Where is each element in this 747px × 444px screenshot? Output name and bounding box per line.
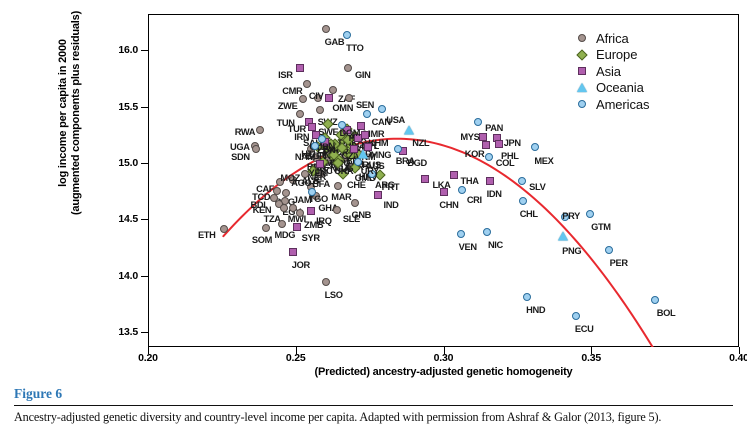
point-label-pan: PAN [485, 124, 503, 133]
data-point-idn [486, 177, 494, 185]
legend-label: Oceania [596, 80, 644, 95]
marker-square [325, 94, 333, 102]
marker-circle [523, 293, 531, 301]
caption-divider [14, 405, 733, 406]
data-point-ven [457, 230, 465, 238]
data-point-sdn [252, 145, 260, 153]
marker-circle [394, 145, 402, 153]
legend-item-americas[interactable]: Americas [575, 96, 649, 113]
data-point-yem [316, 160, 324, 168]
legend-marker-circle-icon [575, 100, 589, 108]
legend-label: Asia [596, 64, 621, 79]
data-point-irq [307, 207, 315, 215]
legend-marker-square-icon [575, 67, 589, 75]
marker-triangle [558, 232, 568, 241]
x-axis-title: (Predicted) ancestry-adjusted genetic ho… [148, 366, 739, 378]
legend-marker-diamond-icon [575, 51, 589, 59]
y-tick [141, 163, 148, 164]
data-point-zaf [329, 86, 337, 94]
marker-triangle [358, 149, 368, 158]
marker-square [374, 191, 382, 199]
legend-swatch [578, 67, 586, 75]
y-tick-label: 16.0 [104, 44, 138, 56]
point-label-gab: GAB [325, 38, 345, 47]
point-label-sen: SEN [356, 101, 374, 110]
legend-item-oceania[interactable]: Oceania [575, 80, 649, 97]
legend-swatch [578, 34, 586, 42]
point-label-ecu: ECU [575, 325, 594, 334]
data-point-kor [482, 141, 490, 149]
data-point-mex [531, 143, 539, 151]
y-tick-label: 14.5 [104, 213, 138, 225]
point-label-ukr: UKR [334, 167, 353, 176]
point-label-gin: GIN [355, 71, 370, 80]
point-label-pry: PRY [562, 212, 580, 221]
data-point-swz [316, 106, 324, 114]
marker-square [421, 175, 429, 183]
data-point-pan [474, 118, 482, 126]
data-point-mys [479, 133, 487, 141]
point-label-cri: CRI [467, 196, 482, 205]
data-point-sle [333, 206, 341, 214]
y-axis-title: log income per capita in 2000 (augmented… [57, 0, 83, 243]
marker-triangle [404, 126, 414, 135]
point-label-dom: DOM [340, 129, 361, 138]
point-label-can: CAN [372, 118, 391, 127]
marker-circle [531, 143, 539, 151]
point-label-isr: ISR [278, 71, 292, 80]
point-label-per: PER [610, 259, 628, 268]
data-point-tha [450, 171, 458, 179]
marker-circle [299, 95, 307, 103]
point-label-yem: YEM [309, 169, 328, 178]
data-point-cmr [303, 80, 311, 88]
y-tick-label: 13.5 [104, 326, 138, 338]
marker-circle [322, 278, 330, 286]
marker-circle [343, 31, 351, 39]
marker-square [479, 133, 487, 141]
marker-circle [572, 312, 580, 320]
point-label-rwa: RWA [235, 128, 255, 137]
marker-circle [256, 126, 264, 134]
data-point-bol [651, 296, 659, 304]
marker-square [289, 248, 297, 256]
marker-circle [296, 110, 304, 118]
point-label-png: PNG [562, 247, 581, 256]
figure-caption: Ancestry-adjusted genetic diversity and … [14, 410, 736, 425]
data-point-chn [440, 188, 448, 196]
marker-circle [278, 220, 286, 228]
data-point-mdg [278, 220, 286, 228]
point-label-kor: KOR [465, 150, 485, 159]
y-tick [141, 50, 148, 51]
point-label-uga: UGA [230, 143, 250, 152]
data-point-usa [378, 105, 386, 113]
legend-marker-circle-icon [575, 34, 589, 42]
legend-label: Africa [596, 31, 629, 46]
marker-circle [363, 110, 371, 118]
data-point-ecu [572, 312, 580, 320]
data-point-gab [322, 25, 330, 33]
legend-swatch [578, 100, 586, 108]
data-point-per [605, 246, 613, 254]
point-label-col: COL [496, 159, 515, 168]
data-point-syr [293, 223, 301, 231]
marker-square [308, 123, 316, 131]
legend: AfricaEuropeAsiaOceaniaAmericas [575, 30, 649, 113]
data-point-tza [280, 204, 288, 212]
data-point-lka [421, 175, 429, 183]
point-label-arg: ARG [375, 181, 395, 190]
marker-circle [605, 246, 613, 254]
point-label-che: CHE [347, 181, 366, 190]
marker-circle [280, 204, 288, 212]
marker-square [450, 171, 458, 179]
data-point-chl [519, 197, 527, 205]
point-label-ven: VEN [459, 243, 477, 252]
point-label-tto: TTO [346, 44, 363, 53]
point-label-nzl: NZL [412, 139, 429, 148]
y-tick [141, 107, 148, 108]
marker-square [482, 141, 490, 149]
data-point-phl [495, 140, 503, 148]
x-tick-label: 0.40 [719, 352, 747, 364]
y-axis-title-line1: log income per capita in 2000 [57, 39, 69, 187]
marker-circle [252, 145, 260, 153]
point-label-slv: SLV [529, 183, 545, 192]
y-axis-title-line2: (augmented components plus residuals) [70, 11, 82, 215]
point-label-eth: ETH [198, 231, 216, 240]
point-label-bol: BOL [657, 309, 676, 318]
legend-label: Americas [596, 97, 649, 112]
data-point-rwa [256, 126, 264, 134]
x-tick-label: 0.30 [424, 352, 464, 364]
data-point-hnd [523, 293, 531, 301]
point-label-jam: JAM [293, 196, 312, 205]
data-point-aus [358, 149, 368, 158]
marker-circle [354, 158, 362, 166]
point-label-hnd: HND [526, 306, 545, 315]
data-point-som [262, 224, 270, 232]
point-label-idn: IDN [487, 190, 502, 199]
y-tick-label: 14.0 [104, 270, 138, 282]
marker-circle [322, 25, 330, 33]
x-tick-label: 0.25 [276, 352, 316, 364]
point-label-som: SOM [252, 236, 272, 245]
plot-area: 13.514.014.515.015.516.0 0.200.250.300.3… [0, 0, 747, 378]
data-point-png [558, 232, 568, 241]
marker-circle [519, 197, 527, 205]
point-label-tgo: TGO [309, 195, 328, 204]
data-point-sen [345, 94, 353, 102]
marker-square [307, 207, 315, 215]
point-label-lso: LSO [325, 291, 343, 300]
figure-container: 13.514.014.515.015.516.0 0.200.250.300.3… [0, 0, 747, 444]
marker-circle [262, 224, 270, 232]
point-label-ind: IND [383, 201, 398, 210]
marker-circle [334, 182, 342, 190]
marker-circle [457, 230, 465, 238]
point-label-chn: CHN [439, 201, 458, 210]
data-point-col [485, 153, 493, 161]
marker-circle [296, 209, 304, 217]
data-point-tto [343, 31, 351, 39]
legend-marker-triangle-icon [575, 83, 589, 92]
data-point-zwe [299, 95, 307, 103]
marker-square [440, 188, 448, 196]
marker-circle [345, 94, 353, 102]
marker-circle [303, 80, 311, 88]
figure-number-label: Figure 6 [14, 386, 62, 402]
legend-swatch [577, 83, 587, 92]
data-point-gin [344, 64, 352, 72]
data-point-ind [374, 191, 382, 199]
y-tick [141, 276, 148, 277]
marker-circle [586, 210, 594, 218]
marker-circle [518, 177, 526, 185]
data-point-omn [325, 94, 333, 102]
marker-circle [333, 206, 341, 214]
marker-circle [651, 296, 659, 304]
data-point-slv [518, 177, 526, 185]
data-point-nzl [404, 126, 414, 135]
x-tick-label: 0.20 [128, 352, 168, 364]
marker-circle [220, 225, 228, 233]
data-point-zmb [296, 209, 304, 217]
marker-circle [329, 86, 337, 94]
point-label-chl: CHL [520, 210, 538, 219]
data-point-jor [289, 248, 297, 256]
point-label-gtm: GTM [591, 223, 611, 232]
data-point-nic [483, 228, 491, 236]
marker-circle [316, 106, 324, 114]
data-point-gtm [586, 210, 594, 218]
data-point-eth [220, 225, 228, 233]
x-tick-label: 0.35 [571, 352, 611, 364]
data-point-can [363, 110, 371, 118]
legend-label: Europe [596, 47, 637, 62]
data-point-gnb [351, 199, 359, 207]
y-tick-label: 15.5 [104, 101, 138, 113]
point-label-jpn: JPN [504, 139, 521, 148]
point-label-alb: ALB [301, 177, 319, 186]
point-label-irq: IRQ [316, 217, 331, 226]
data-point-cri [458, 186, 466, 194]
data-point-bra [394, 145, 402, 153]
data-point-lso [322, 278, 330, 286]
y-tick-label: 15.0 [104, 157, 138, 169]
data-point-mar [334, 182, 342, 190]
point-label-mex: MEX [534, 157, 553, 166]
y-tick [141, 219, 148, 220]
data-point-isr [296, 64, 304, 72]
point-label-nic: NIC [488, 241, 503, 250]
marker-circle [351, 199, 359, 207]
marker-square [486, 177, 494, 185]
point-label-mys: MYS [460, 133, 479, 142]
point-label-omn: OMN [332, 104, 353, 113]
point-label-sdn: SDN [231, 153, 250, 162]
point-label-ury: URY [361, 167, 379, 176]
point-label-civ: CIV [309, 92, 323, 101]
marker-square [293, 223, 301, 231]
point-label-bra: BRA [396, 157, 415, 166]
data-point-irn [308, 123, 316, 131]
point-label-mdg: MDG [274, 231, 295, 240]
marker-circle [458, 186, 466, 194]
marker-circle [378, 105, 386, 113]
legend-item-africa[interactable]: Africa [575, 30, 649, 47]
marker-circle [483, 228, 491, 236]
marker-circle [485, 153, 493, 161]
data-point-ury [354, 158, 362, 166]
legend-item-asia[interactable]: Asia [575, 63, 649, 80]
point-label-sle: SLE [343, 215, 360, 224]
marker-circle [344, 64, 352, 72]
marker-circle [474, 118, 482, 126]
marker-square [495, 140, 503, 148]
marker-square [316, 160, 324, 168]
point-label-mng: MNG [371, 151, 392, 160]
legend-swatch [576, 49, 587, 60]
marker-square [296, 64, 304, 72]
point-label-mar: MAR [331, 193, 351, 202]
point-label-jor: JOR [292, 261, 310, 270]
point-label-zwe: ZWE [278, 102, 298, 111]
point-label-hti: HTI [301, 150, 315, 159]
point-label-syr: SYR [302, 234, 320, 243]
y-tick [141, 332, 148, 333]
legend-item-europe[interactable]: Europe [575, 47, 649, 64]
data-point-tun [296, 110, 304, 118]
